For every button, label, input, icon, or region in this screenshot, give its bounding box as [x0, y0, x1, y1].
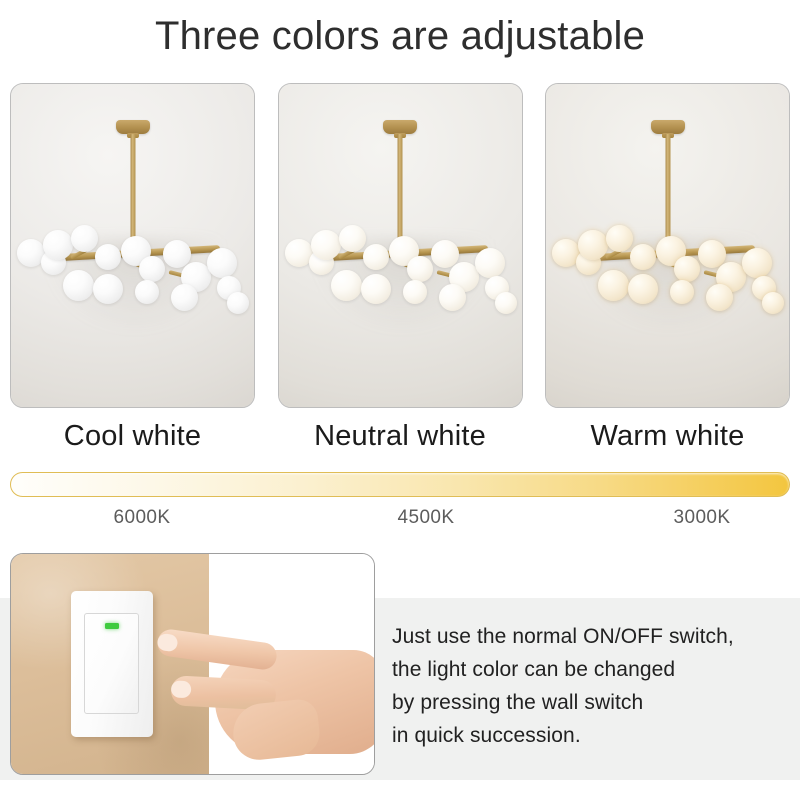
switch-rocker[interactable]	[84, 613, 139, 714]
light-globe	[742, 248, 772, 278]
fingernail	[156, 633, 178, 653]
chandelier-cool-white-image	[11, 84, 254, 407]
color-mode-card-warm-white[interactable]	[545, 83, 790, 408]
light-globe	[63, 270, 94, 301]
light-switch-plate[interactable]	[71, 591, 153, 737]
light-globe	[43, 230, 73, 260]
led-indicator-icon	[105, 623, 119, 629]
light-globe	[363, 244, 389, 270]
color-temperature-gradient-bar	[10, 472, 790, 497]
light-globe	[171, 284, 198, 311]
light-globe	[630, 244, 656, 270]
color-mode-card-neutral-white[interactable]	[278, 83, 523, 408]
suspension-rod	[665, 134, 670, 252]
light-globe	[495, 292, 517, 314]
page-title: Three colors are adjustable	[0, 8, 800, 64]
light-globe	[439, 284, 466, 311]
ceiling-canopy-icon	[383, 120, 417, 134]
light-globe	[339, 225, 366, 252]
ceiling-canopy-icon	[116, 120, 150, 134]
light-globe	[403, 280, 427, 304]
chandelier-neutral-white-image	[279, 84, 522, 407]
suspension-rod	[130, 134, 135, 252]
wall-switch-photo-card[interactable]	[10, 553, 375, 775]
caption-line-3: by pressing the wall switch	[392, 686, 792, 719]
light-globe	[139, 256, 165, 282]
light-globe	[578, 230, 608, 260]
kelvin-tick-6000k: 6000K	[114, 507, 171, 529]
light-globe	[407, 256, 433, 282]
light-globe	[71, 225, 98, 252]
caption-line-4: in quick succession.	[392, 719, 792, 752]
color-mode-card-cool-white[interactable]	[10, 83, 255, 408]
light-globe	[135, 280, 159, 304]
light-globe	[670, 280, 694, 304]
color-temperature-ticks: 6000K 4500K 3000K	[10, 507, 790, 533]
ceiling-canopy-icon	[651, 120, 685, 134]
color-mode-labels: Cool white Neutral white Warm white	[10, 418, 790, 454]
chandelier-warm-white-image	[546, 84, 789, 407]
hand-illustration	[161, 606, 375, 775]
suspension-rod	[398, 134, 403, 252]
instruction-caption: Just use the normal ON/OFF switch, the l…	[392, 620, 792, 752]
fingernail	[171, 680, 192, 698]
light-globe	[95, 244, 121, 270]
light-globe	[598, 270, 629, 301]
light-globe	[331, 270, 362, 301]
light-globe	[475, 248, 505, 278]
light-globe	[227, 292, 249, 314]
index-finger	[156, 628, 279, 671]
light-globe	[606, 225, 633, 252]
light-globe	[628, 274, 658, 304]
light-globe	[361, 274, 391, 304]
label-neutral-white: Neutral white	[278, 418, 523, 454]
label-warm-white: Warm white	[545, 418, 790, 454]
caption-line-1: Just use the normal ON/OFF switch,	[392, 620, 792, 653]
color-mode-gallery	[10, 83, 790, 408]
label-cool-white: Cool white	[10, 418, 255, 454]
light-globe	[674, 256, 700, 282]
light-globe	[762, 292, 784, 314]
caption-line-2: the light color can be changed	[392, 653, 792, 686]
kelvin-tick-4500k: 4500K	[398, 507, 455, 529]
light-globe	[311, 230, 341, 260]
light-globe	[93, 274, 123, 304]
kelvin-tick-3000k: 3000K	[674, 507, 731, 529]
light-globe	[706, 284, 733, 311]
light-globe	[207, 248, 237, 278]
